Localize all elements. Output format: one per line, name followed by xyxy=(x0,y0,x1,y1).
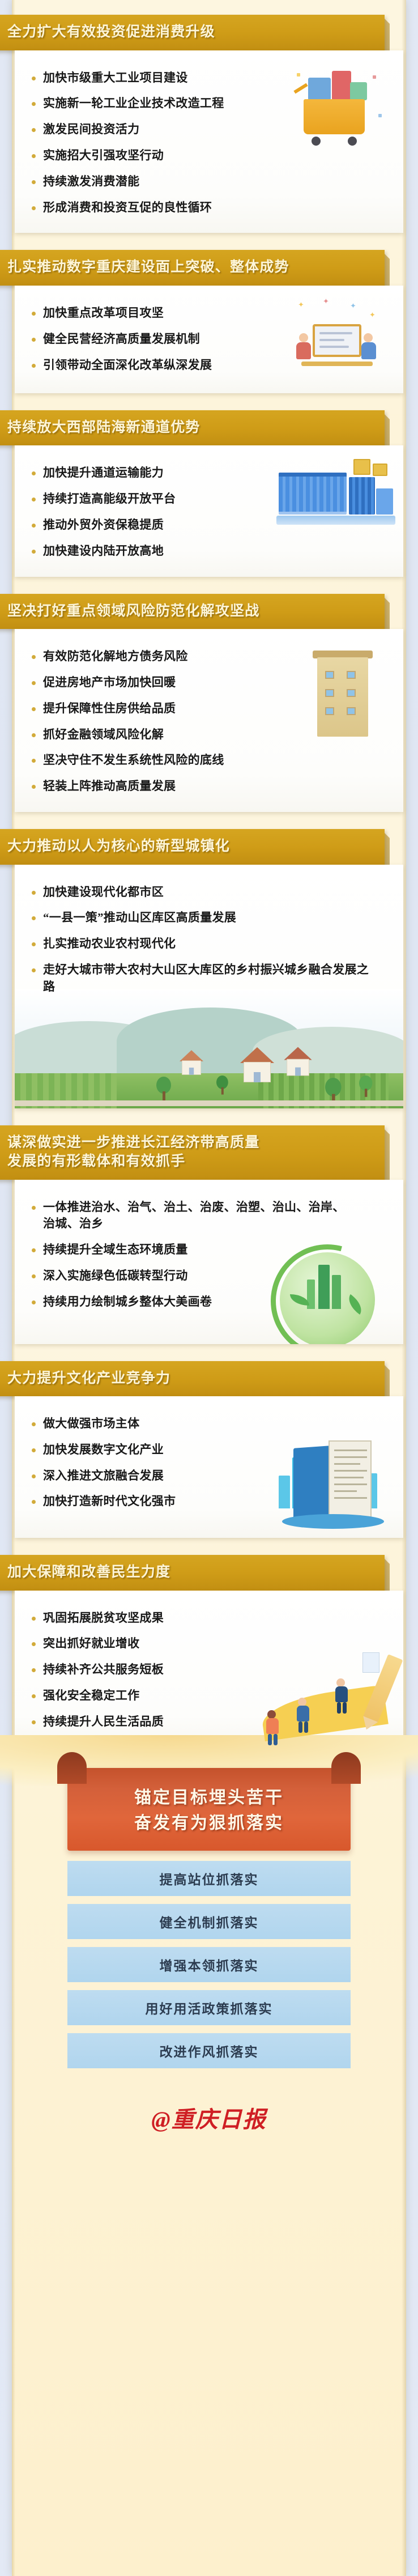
list-item: 加快提升通道运输能力 xyxy=(28,465,300,482)
list-item: 走好大城市带大农村大山区大库区的乡村振兴城乡融合发展之路 xyxy=(28,962,375,996)
list-item: 持续激发消费潜能 xyxy=(28,173,300,190)
section-land-sea-corridor: 持续放大西部陆海新通道优势 加快提升通道运输能力 持续打造高能级开放平台 推动外… xyxy=(0,410,418,577)
section-banner: 加大保障和改善民生力度 xyxy=(0,1555,385,1591)
list-item: 深入实施绿色低碳转型行动 xyxy=(28,1268,300,1285)
section-banner: 大力提升文化产业竞争力 xyxy=(0,1361,385,1397)
list-item: 加快打造新时代文化强市 xyxy=(28,1493,300,1510)
section-investment-consumption: 全力扩大有效投资促进消费升级 加快市级重大工业项目建设 实施新一轮工业企业技术改… xyxy=(0,0,418,233)
section-card: 加快市级重大工业项目建设 实施新一轮工业企业技术改造工程 激发民间投资活力 实施… xyxy=(15,50,403,233)
list-item: 加快市级重大工业项目建设 xyxy=(28,70,300,87)
publisher-logo: @重庆日报 xyxy=(0,2101,418,2134)
scroll-line-2: 奋发有为狠抓落实 xyxy=(79,1810,339,1836)
section-livelihood: 加大保障和改善民生力度 xyxy=(0,1555,418,1748)
list-item: 坚决守住不发生系统性风险的底线 xyxy=(28,752,368,769)
list-item: 有效防范化解地方债务风险 xyxy=(28,648,300,665)
section-banner: 持续放大西部陆海新通道优势 xyxy=(0,410,385,446)
list-item: 推动外贸外资保稳提质 xyxy=(28,517,300,534)
section-card: 加快提升通道运输能力 持续打造高能级开放平台 推动外贸外资保稳提质 加快建设内陆… xyxy=(15,445,403,576)
section-banner: 大力推动以人为核心的新型城镇化 xyxy=(0,829,385,865)
list-item: 实施新一轮工业企业技术改造工程 xyxy=(28,95,368,112)
cta-item-improve-work-style[interactable]: 改进作风抓落实 xyxy=(67,2033,351,2068)
section-risk-prevention: 坚决打好重点领域风险防范化解攻坚战 有效防范化解地方债务风险 促进房地产市场加快… xyxy=(0,594,418,812)
section-yangtze-economic-belt: 谋深做实进一步推进长江经济带高质量 发展的有形载体和有效抓手 一体推进治水、治气… xyxy=(0,1125,418,1344)
section-card: 有效防范化解地方债务风险 促进房地产市场加快回暖 提升保障性住房供给品质 抓好金… xyxy=(15,629,403,812)
cta-item-improve-mechanism[interactable]: 健全机制抓落实 xyxy=(67,1904,351,1939)
bullet-list: 加快重点改革项目攻坚 健全民营经济高质量发展机制 引领带动全面深化改革纵深发展 xyxy=(28,305,391,373)
infographic-page: 全力扩大有效投资促进消费升级 加快市级重大工业项目建设 实施新一轮工业企业技术改… xyxy=(0,0,418,2576)
list-item: 促进房地产市场加快回暖 xyxy=(28,674,300,691)
list-item: 突出抓好就业增收 xyxy=(28,1635,300,1652)
list-item: “一县一策”推动山区库区高质量发展 xyxy=(28,909,368,926)
section-digital-chongqing: 扎实推动数字重庆建设面上突破、整体成势 ✦ ✦ ✦ ✦ xyxy=(0,250,418,393)
section-title: 大力提升文化产业竞争力 xyxy=(7,1369,374,1388)
list-item: 加快建设现代化都市区 xyxy=(28,884,300,901)
list-item: 引领带动全面深化改革纵深发展 xyxy=(28,357,368,374)
bullet-list: 加快建设现代化都市区 “一县一策”推动山区库区高质量发展 扎实推动农业农村现代化… xyxy=(28,884,391,996)
section-card: 一体推进治水、治气、治土、治废、治塑、治山、治岸、治城、治乡 持续提升全域生态环… xyxy=(15,1180,403,1344)
scroll-line-1: 锚定目标埋头苦干 xyxy=(79,1785,339,1810)
list-item: 一体推进治水、治气、治土、治废、治塑、治山、治岸、治城、治乡 xyxy=(28,1199,349,1233)
section-title: 加大保障和改善民生力度 xyxy=(7,1563,374,1582)
section-title: 持续放大西部陆海新通道优势 xyxy=(7,418,374,437)
section-title: 全力扩大有效投资促进消费升级 xyxy=(7,23,374,42)
bullet-list: 做大做强市场主体 加快发展数字文化产业 深入推进文旅融合发展 加快打造新时代文化… xyxy=(28,1415,391,1510)
cta-item-raise-standing[interactable]: 提高站位抓落实 xyxy=(67,1861,351,1896)
section-new-urbanization: 大力推动以人为核心的新型城镇化 加快建设现代化都市区 “一县一策”推动山区库区高… xyxy=(0,829,418,1108)
village-landscape-icon xyxy=(15,989,403,1108)
section-title: 谋深做实进一步推进长江经济带高质量 发展的有形载体和有效抓手 xyxy=(7,1133,374,1171)
list-item: 做大做强市场主体 xyxy=(28,1415,300,1432)
bullet-list: 加快提升通道运输能力 持续打造高能级开放平台 推动外贸外资保稳提质 加快建设内陆… xyxy=(28,465,391,559)
section-title: 坚决打好重点领域风险防范化解攻坚战 xyxy=(7,602,374,621)
section-card: 巩固拓展脱贫攻坚成果 突出抓好就业增收 持续补齐公共服务短板 强化安全稳定工作 … xyxy=(15,1591,403,1748)
list-item: 持续用力绘制城乡整体大美画卷 xyxy=(28,1294,300,1311)
list-item: 实施招大引强攻坚行动 xyxy=(28,147,300,164)
bullet-list: 加快市级重大工业项目建设 实施新一轮工业企业技术改造工程 激发民间投资活力 实施… xyxy=(28,70,391,216)
section-banner: 坚决打好重点领域风险防范化解攻坚战 xyxy=(0,594,385,630)
section-card: 做大做强市场主体 加快发展数字文化产业 深入推进文旅融合发展 加快打造新时代文化… xyxy=(15,1396,403,1538)
section-card: ✦ ✦ ✦ ✦ 加快重点改革项目攻坚 xyxy=(15,286,403,393)
list-item: 扎实推动农业农村现代化 xyxy=(28,936,300,953)
list-item: 强化安全稳定工作 xyxy=(28,1687,300,1704)
list-item: 持续提升全域生态环境质量 xyxy=(28,1242,300,1259)
list-item: 深入推进文旅融合发展 xyxy=(28,1468,300,1485)
list-item: 持续打造高能级开放平台 xyxy=(28,491,300,508)
list-item: 健全民营经济高质量发展机制 xyxy=(28,331,368,348)
list-item: 加快建设内陆开放高地 xyxy=(28,543,300,560)
list-item: 抓好金融领域风险化解 xyxy=(28,726,300,743)
call-to-action-block: 锚定目标埋头苦干 奋发有为狠抓落实 提高站位抓落实 健全机制抓落实 增强本领抓落… xyxy=(0,1768,418,2157)
cta-item-strengthen-ability[interactable]: 增强本领抓落实 xyxy=(67,1947,351,1982)
cta-item-use-policy[interactable]: 用好用活政策抓落实 xyxy=(67,1990,351,2025)
list-item: 持续提升人民生活品质 xyxy=(28,1714,300,1731)
infographic-content: 全力扩大有效投资促进消费升级 加快市级重大工业项目建设 实施新一轮工业企业技术改… xyxy=(0,0,418,2162)
list-item: 提升保障性住房供给品质 xyxy=(28,700,300,717)
section-banner: 扎实推动数字重庆建设面上突破、整体成势 xyxy=(0,250,385,286)
bullet-list: 一体推进治水、治气、治土、治废、治塑、治山、治岸、治城、治乡 持续提升全域生态环… xyxy=(28,1199,391,1311)
list-item: 形成消费和投资互促的良性循环 xyxy=(28,199,300,216)
list-item: 加快发展数字文化产业 xyxy=(28,1442,300,1459)
section-banner: 全力扩大有效投资促进消费升级 xyxy=(0,15,385,50)
section-title: 扎实推动数字重庆建设面上突破、整体成势 xyxy=(7,258,374,277)
section-card: 加快建设现代化都市区 “一县一策”推动山区库区高质量发展 扎实推动农业农村现代化… xyxy=(15,865,403,1108)
section-title: 大力推动以人为核心的新型城镇化 xyxy=(7,837,374,856)
list-item: 加快重点改革项目攻坚 xyxy=(28,305,300,322)
list-item: 持续补齐公共服务短板 xyxy=(28,1661,300,1678)
list-item: 巩固拓展脱贫攻坚成果 xyxy=(28,1610,300,1627)
bullet-list: 巩固拓展脱贫攻坚成果 突出抓好就业增收 持续补齐公共服务短板 强化安全稳定工作 … xyxy=(28,1610,391,1731)
cta-item-list: 提高站位抓落实 健全机制抓落实 增强本领抓落实 用好用活政策抓落实 改进作风抓落… xyxy=(67,1861,351,2068)
section-cultural-industry: 大力提升文化产业竞争力 xyxy=(0,1361,418,1538)
scroll-banner: 锚定目标埋头苦干 奋发有为狠抓落实 xyxy=(67,1768,351,1851)
section-banner: 谋深做实进一步推进长江经济带高质量 发展的有形载体和有效抓手 xyxy=(0,1125,385,1180)
list-item: 轻装上阵推动高质量发展 xyxy=(28,778,300,795)
bullet-list: 有效防范化解地方债务风险 促进房地产市场加快回暖 提升保障性住房供给品质 抓好金… xyxy=(28,648,391,795)
list-item: 激发民间投资活力 xyxy=(28,121,300,138)
